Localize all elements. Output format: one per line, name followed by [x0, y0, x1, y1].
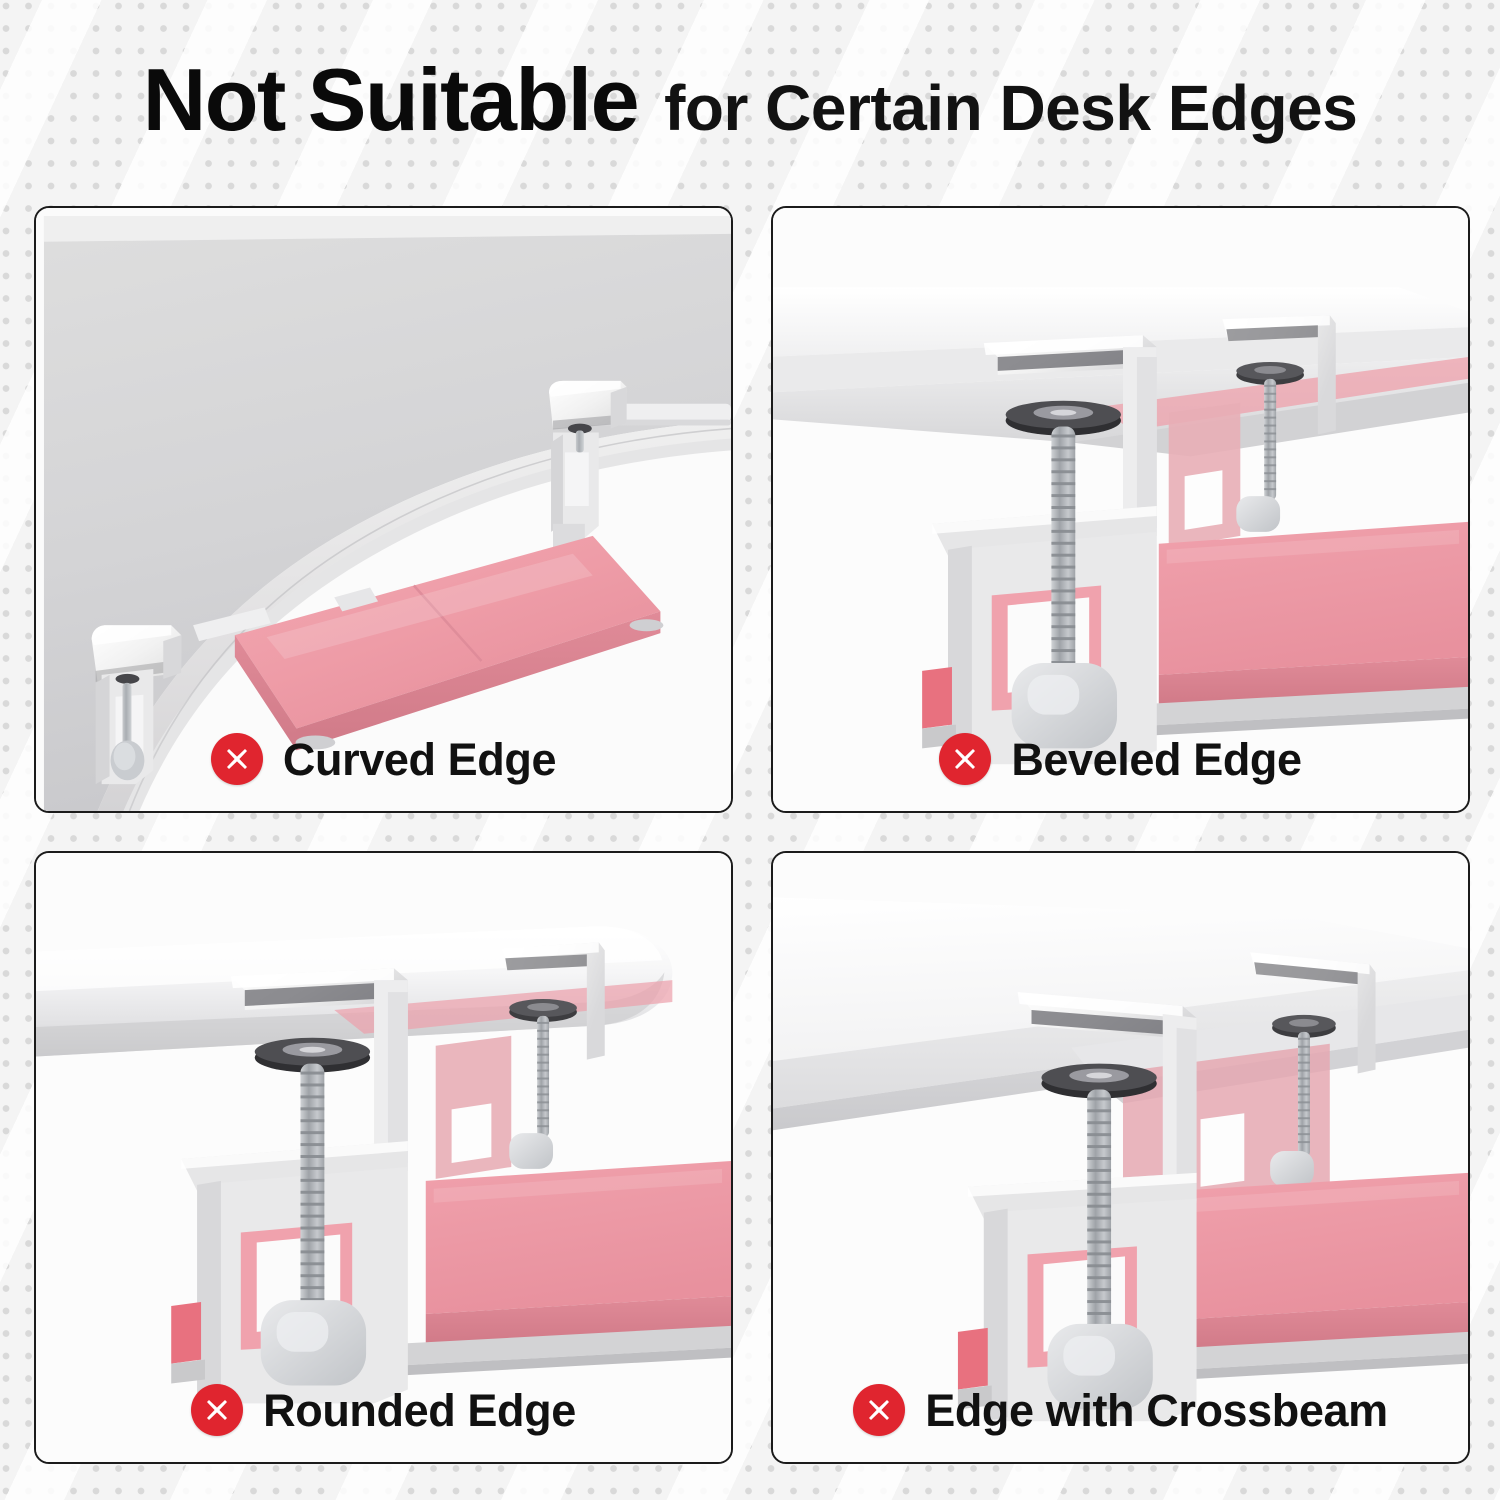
caption-label: Edge with Crossbeam	[925, 1388, 1388, 1433]
x-mark-icon	[853, 1384, 905, 1436]
illustration-beveled-edge	[773, 208, 1468, 811]
keyboard-tray	[1149, 1173, 1468, 1382]
illustration-rounded-edge	[36, 853, 731, 1462]
title-remainder: for Certain Desk Edges	[664, 76, 1357, 140]
panel-curved-edge: Curved Edge	[34, 206, 733, 813]
illustration-edge-with-crossbeam	[773, 853, 1468, 1462]
panel-beveled-edge: Beveled Edge	[771, 206, 1470, 813]
panel-edge-with-crossbeam: Edge with Crossbeam	[771, 851, 1470, 1464]
x-mark-icon	[939, 733, 991, 785]
caption-label: Curved Edge	[283, 737, 556, 782]
caption-label: Beveled Edge	[1011, 737, 1301, 782]
keyboard-tray	[1131, 522, 1468, 737]
panel-rounded-edge: Rounded Edge	[34, 851, 733, 1464]
caption-rounded-edge: Rounded Edge	[36, 1384, 731, 1436]
illustration-curved-edge	[36, 208, 731, 811]
caption-curved-edge: Curved Edge	[36, 733, 731, 785]
caption-label: Rounded Edge	[263, 1388, 576, 1433]
x-mark-icon	[191, 1384, 243, 1436]
keyboard-tray	[398, 1161, 731, 1376]
title-emphasis: Not Suitable	[143, 56, 638, 144]
page-title: Not Suitable for Certain Desk Edges	[0, 56, 1500, 166]
caption-beveled-edge: Beveled Edge	[773, 733, 1468, 785]
caption-edge-with-crossbeam: Edge with Crossbeam	[773, 1384, 1468, 1436]
panel-grid: Curved Edge	[34, 206, 1470, 1464]
x-mark-icon	[211, 733, 263, 785]
